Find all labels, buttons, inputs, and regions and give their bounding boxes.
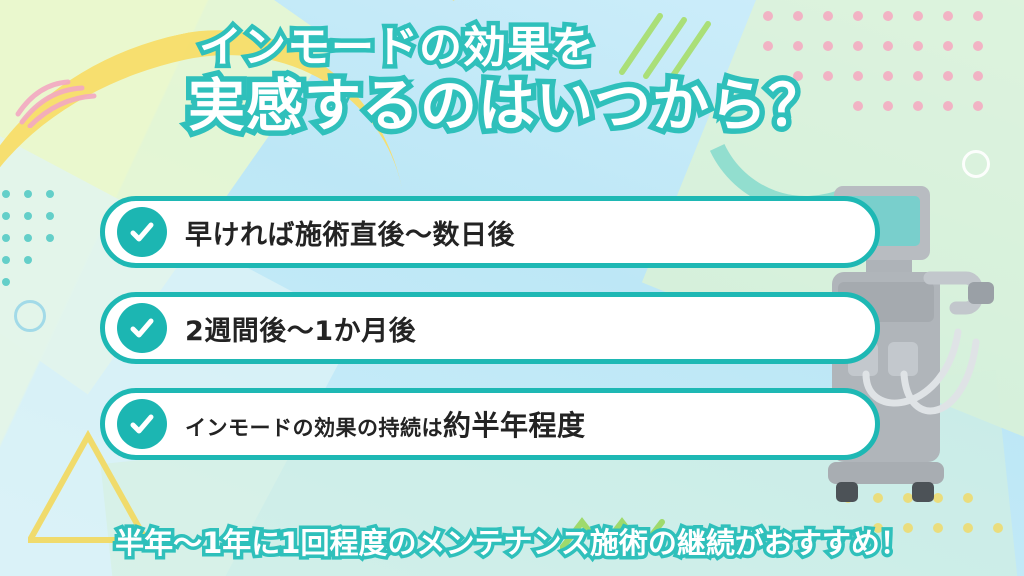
title-block: インモードの効果を 実感するのはいつから？ [0,26,1024,137]
decorative-dot-grid-teal [0,186,70,306]
footer-caption: 半年〜1年に1回程度のメンテナンス施術の継続がおすすめ！ [0,520,1024,562]
list-item[interactable]: 早ければ施術直後〜数日後 [100,196,880,268]
check-circle-icon [117,207,167,257]
list-item-label-emphasis: 約半年程度 [443,409,586,442]
bullet-list: 早ければ施術直後〜数日後 2週間後〜1か月後 インモードの効果の持続は約半年程度 [100,196,880,484]
list-item-label: 2週間後〜1か月後 [185,309,416,348]
list-item-label-lead: インモードの効果の持続は [185,416,443,440]
title-line-2: 実感するのはいつから？ [0,77,1024,137]
check-circle-icon [117,303,167,353]
decorative-circle-outline [962,150,990,178]
title-line-1: インモードの効果を [0,26,1024,71]
check-circle-icon [117,399,167,449]
list-item-label: 早ければ施術直後〜数日後 [185,213,515,252]
list-item[interactable]: インモードの効果の持続は約半年程度 [100,388,880,460]
slide-canvas: インモードの効果を 実感するのはいつから？ [0,0,1024,576]
list-item-label: インモードの効果の持続は約半年程度 [185,404,586,444]
list-item[interactable]: 2週間後〜1か月後 [100,292,880,364]
